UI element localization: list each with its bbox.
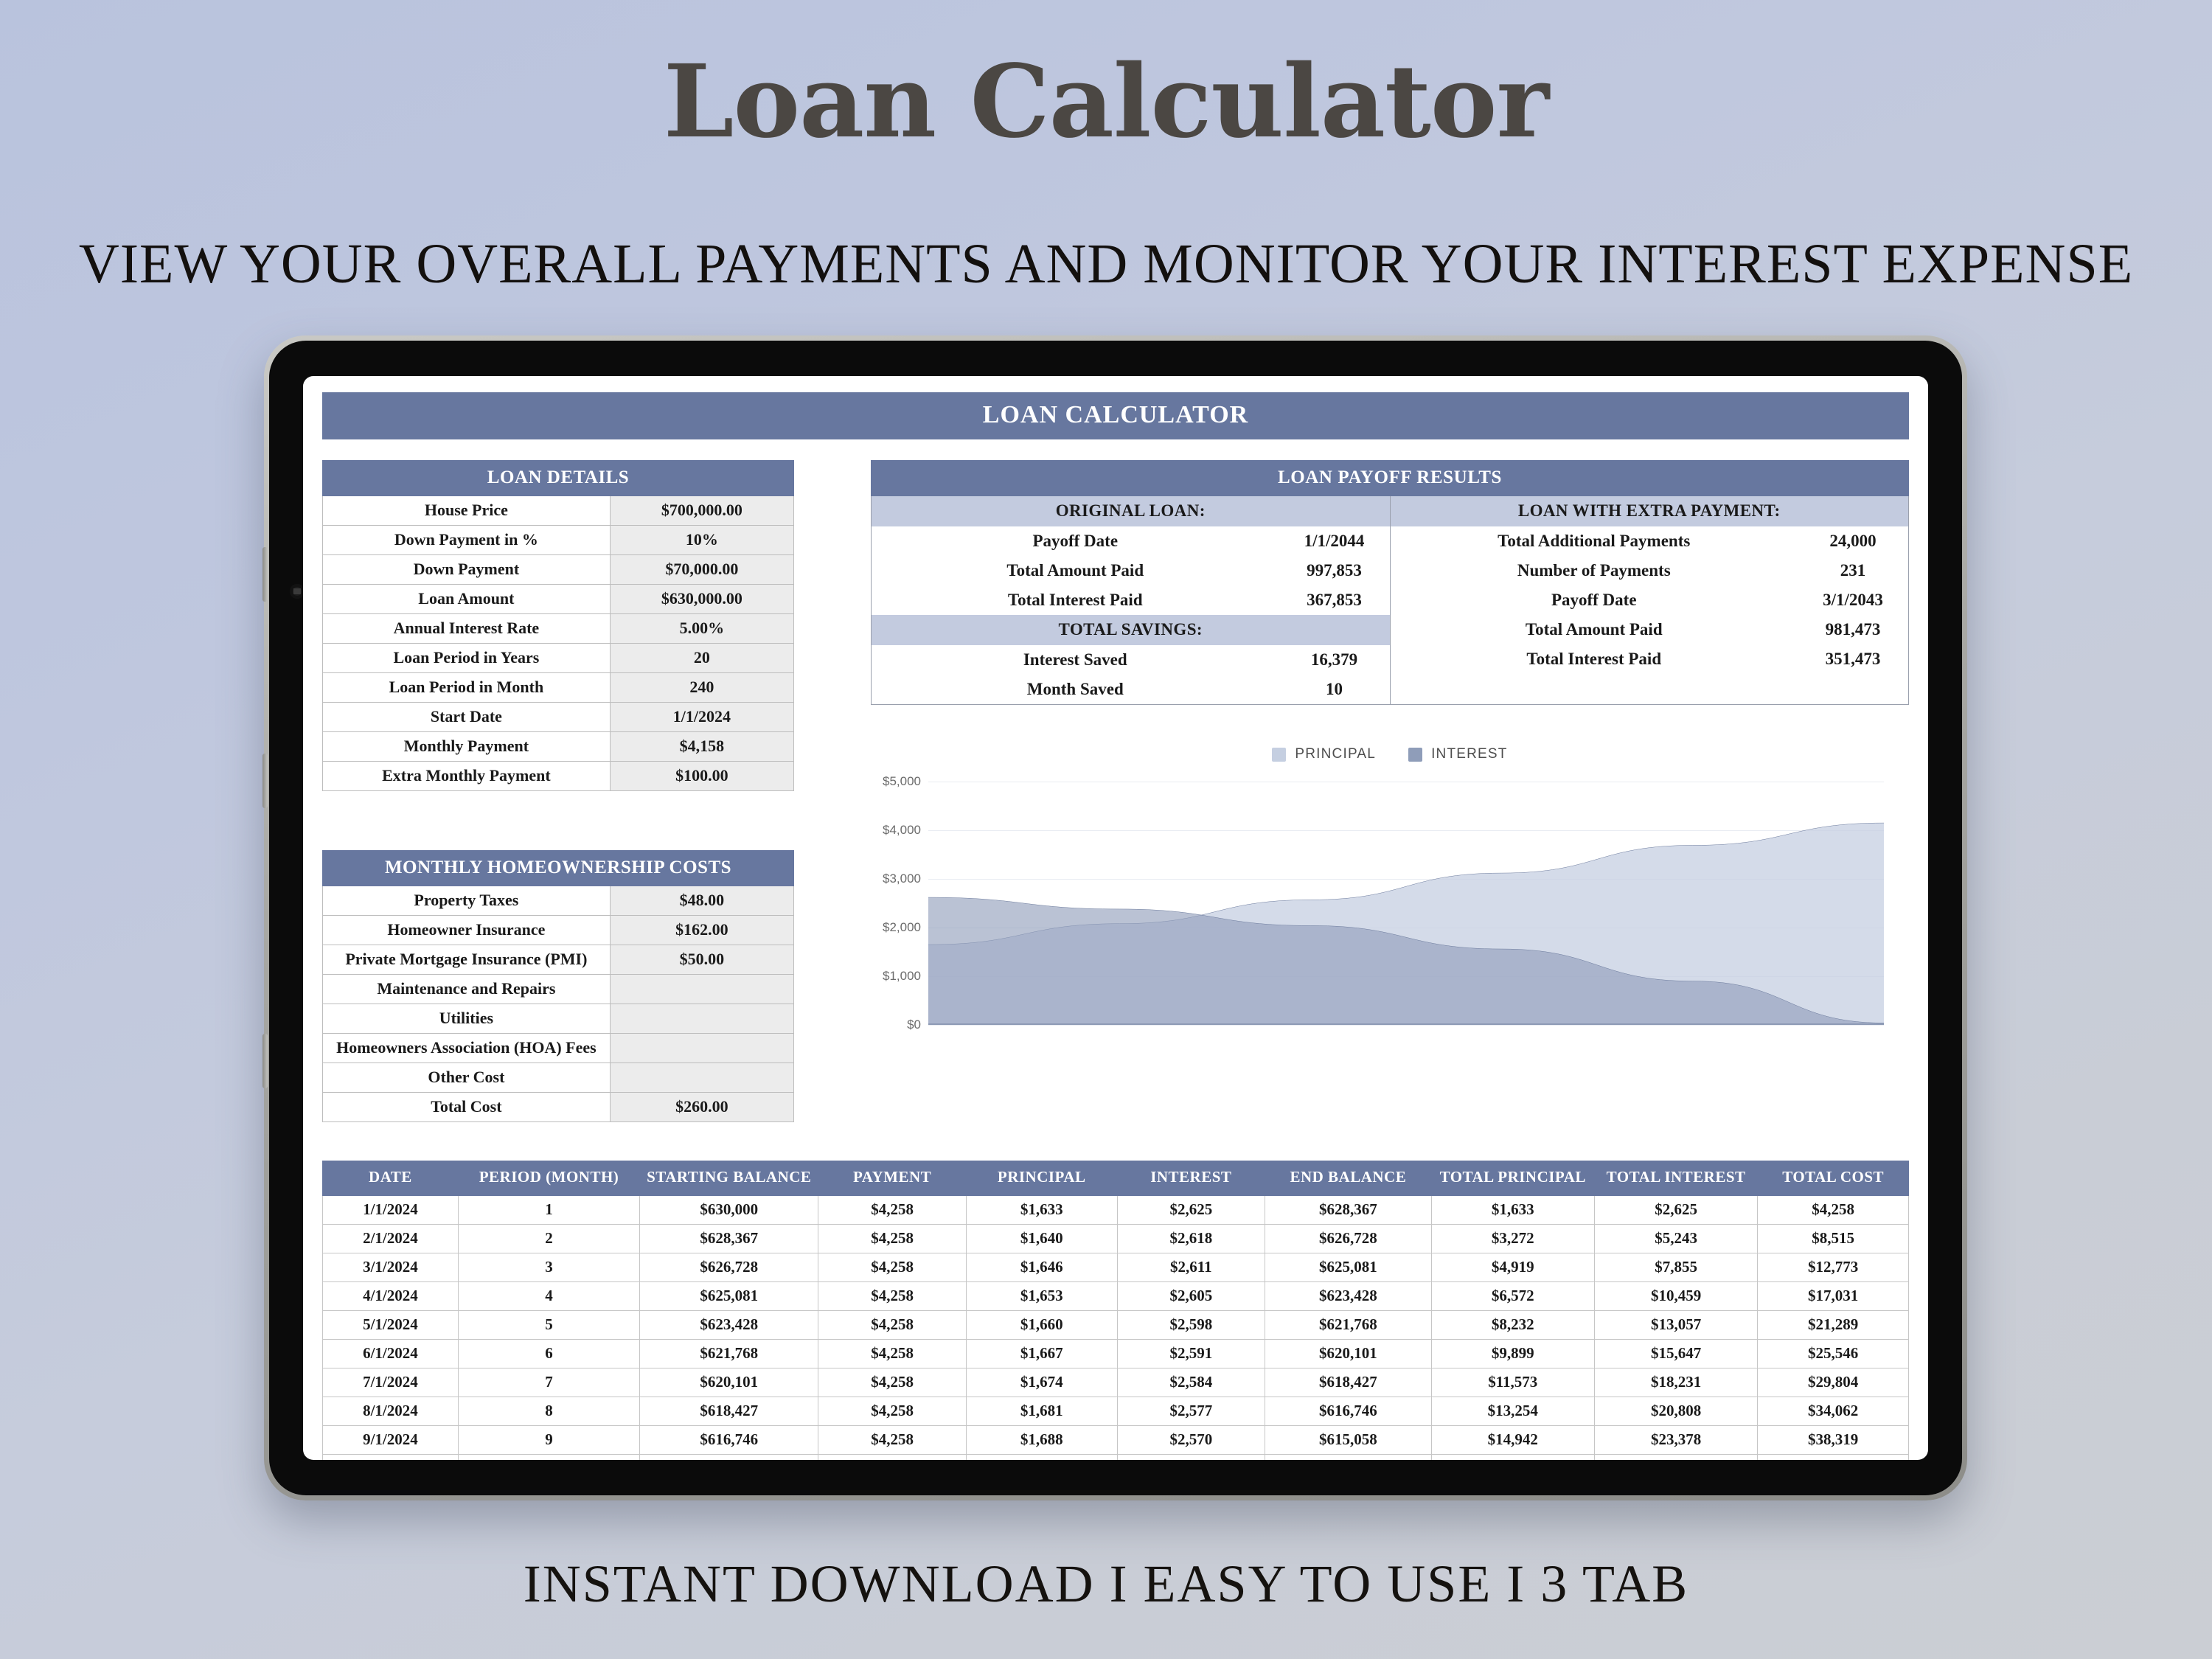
table-cell[interactable]: 5/1/2024 (323, 1310, 459, 1339)
table-row[interactable]: Other Cost (323, 1063, 794, 1093)
table-cell[interactable]: $2,598 (1117, 1310, 1265, 1339)
table-cell[interactable]: $615,058 (640, 1454, 818, 1460)
table-cell[interactable]: $1,681 (966, 1397, 1117, 1425)
table-cell[interactable]: $9,899 (1431, 1339, 1594, 1368)
table-row[interactable]: 2/1/20242$628,367$4,258$1,640$2,618$626,… (323, 1224, 1909, 1253)
row-value[interactable]: $162.00 (610, 916, 793, 945)
row-label: Extra Monthly Payment (323, 762, 611, 791)
table-row[interactable]: House Price$700,000.00 (323, 496, 794, 526)
table-row[interactable]: Property Taxes$48.00 (323, 886, 794, 916)
table-cell[interactable]: 9 (458, 1425, 639, 1454)
monthly-costs-table: MONTHLY HOMEOWNERSHIP COSTS Property Tax… (322, 850, 794, 1122)
table-cell[interactable]: $15,647 (1594, 1339, 1757, 1368)
amortization-schedule: DATEPERIOD (MONTH)STARTING BALANCEPAYMEN… (322, 1161, 1909, 1460)
table-cell[interactable]: $2,625 (1594, 1195, 1757, 1224)
table-cell[interactable]: $2,618 (1117, 1224, 1265, 1253)
row-value: 231 (1798, 556, 1908, 585)
row-value[interactable] (610, 975, 793, 1004)
table-cell[interactable]: 7 (458, 1368, 639, 1397)
row-label: Loan Period in Month (323, 673, 611, 703)
table-cell[interactable]: $1,674 (966, 1368, 1117, 1397)
table-cell[interactable]: $628,367 (1265, 1195, 1432, 1224)
table-row[interactable]: 5/1/20245$623,428$4,258$1,660$2,598$621,… (323, 1310, 1909, 1339)
table-row[interactable]: 10/1/202410$615,058$4,258$1,695$2,563$61… (323, 1454, 1909, 1460)
page-footer-text: INSTANT DOWNLOAD I EASY TO USE I 3 TAB (0, 1557, 2212, 1610)
table-row[interactable]: Total Cost$260.00 (323, 1093, 794, 1122)
table-cell[interactable]: $4,258 (818, 1253, 967, 1281)
table-cell[interactable]: $1,688 (966, 1425, 1117, 1454)
volume-down-button[interactable] (262, 754, 268, 808)
volume-up-button[interactable] (262, 547, 268, 602)
gridline (928, 1025, 1884, 1026)
payoff-row: Payoff Date1/1/2044 (872, 526, 1390, 556)
row-value[interactable]: $630,000.00 (610, 585, 793, 614)
table-cell[interactable]: $1,660 (966, 1310, 1117, 1339)
row-label: Homeowner Insurance (323, 916, 611, 945)
row-value: 351,473 (1798, 644, 1908, 674)
row-label: Start Date (323, 703, 611, 732)
row-label: Monthly Payment (323, 732, 611, 762)
page-title: Loan Calculator (0, 52, 2212, 152)
row-label: Payoff Date (1391, 585, 1798, 615)
y-tick-label: $3,000 (883, 872, 921, 886)
row-value[interactable]: $50.00 (610, 945, 793, 975)
table-row[interactable]: 6/1/20246$621,768$4,258$1,667$2,591$620,… (323, 1339, 1909, 1368)
column-header[interactable]: PRINCIPAL (966, 1161, 1117, 1196)
row-label: Loan Period in Years (323, 644, 611, 673)
row-value[interactable]: $700,000.00 (610, 496, 793, 526)
table-row[interactable]: Private Mortgage Insurance (PMI)$50.00 (323, 945, 794, 975)
row-label: Interest Saved (872, 645, 1279, 675)
total-savings-subheader: TOTAL SAVINGS: (872, 615, 1390, 645)
payoff-row: Total Interest Paid367,853 (872, 585, 1390, 615)
row-value[interactable]: 5.00% (610, 614, 793, 644)
table-cell[interactable]: $1,640 (966, 1224, 1117, 1253)
row-value[interactable]: $4,158 (610, 732, 793, 762)
legend-label-interest: INTEREST (1431, 746, 1508, 762)
table-cell[interactable]: 9/1/2024 (323, 1425, 459, 1454)
principal-interest-area-chart: PRINCIPAL INTEREST $0$1,000$2,000$3,000$… (871, 746, 1909, 1025)
table-row[interactable]: Monthly Payment$4,158 (323, 732, 794, 762)
row-label: Private Mortgage Insurance (PMI) (323, 945, 611, 975)
table-cell[interactable]: $4,258 (818, 1397, 967, 1425)
table-cell[interactable]: 4 (458, 1281, 639, 1310)
row-label: Total Cost (323, 1093, 611, 1122)
y-tick-label: $2,000 (883, 920, 921, 935)
row-label: Total Amount Paid (872, 556, 1279, 585)
table-cell[interactable]: $2,584 (1117, 1368, 1265, 1397)
table-cell[interactable]: $18,231 (1594, 1368, 1757, 1397)
column-header[interactable]: PAYMENT (818, 1161, 967, 1196)
table-cell[interactable]: $10,459 (1594, 1281, 1757, 1310)
row-label: Total Additional Payments (1391, 526, 1798, 556)
payoff-original-cell: ORIGINAL LOAN: Payoff Date1/1/2044 Total… (872, 496, 1391, 705)
row-label: Property Taxes (323, 886, 611, 916)
table-cell[interactable]: 10 (458, 1454, 639, 1460)
column-header[interactable]: PERIOD (MONTH) (458, 1161, 639, 1196)
table-row[interactable]: 8/1/20248$618,427$4,258$1,681$2,577$616,… (323, 1397, 1909, 1425)
table-cell[interactable]: $2,591 (1117, 1339, 1265, 1368)
chart-x-axis (928, 1023, 1884, 1025)
row-label: Down Payment in % (323, 526, 611, 555)
right-column: LOAN PAYOFF RESULTS ORIGINAL LOAN: Payof… (794, 460, 1909, 1122)
table-cell[interactable]: $42,577 (1758, 1454, 1909, 1460)
table-cell[interactable]: $3,272 (1431, 1224, 1594, 1253)
amortization-header-row: DATEPERIOD (MONTH)STARTING BALANCEPAYMEN… (323, 1161, 1909, 1196)
table-cell[interactable]: $4,258 (818, 1454, 967, 1460)
extra-payment-subheader: LOAN WITH EXTRA PAYMENT: (1391, 496, 1909, 526)
table-row[interactable]: 9/1/20249$616,746$4,258$1,688$2,570$615,… (323, 1425, 1909, 1454)
column-header[interactable]: INTEREST (1117, 1161, 1265, 1196)
table-cell[interactable]: $12,773 (1758, 1253, 1909, 1281)
table-row[interactable]: 7/1/20247$620,101$4,258$1,674$2,584$618,… (323, 1368, 1909, 1397)
table-cell[interactable]: $8,232 (1431, 1310, 1594, 1339)
amortization-body: 1/1/20241$630,000$4,258$1,633$2,625$628,… (323, 1195, 1909, 1460)
legend-swatch-principal (1272, 748, 1286, 762)
table-cell[interactable]: $4,258 (818, 1195, 967, 1224)
table-cell[interactable]: $20,808 (1594, 1397, 1757, 1425)
row-value[interactable]: $70,000.00 (610, 555, 793, 585)
table-cell[interactable]: 1 (458, 1195, 639, 1224)
column-header[interactable]: TOTAL INTEREST (1594, 1161, 1757, 1196)
table-cell[interactable]: $2,577 (1117, 1397, 1265, 1425)
column-header[interactable]: END BALANCE (1265, 1161, 1432, 1196)
loan-details-table: LOAN DETAILS House Price$700,000.00 Down… (322, 460, 794, 791)
table-cell[interactable]: $8,515 (1758, 1224, 1909, 1253)
table-cell[interactable]: $2,570 (1117, 1425, 1265, 1454)
table-cell[interactable]: $14,942 (1431, 1425, 1594, 1454)
table-row[interactable]: Start Date1/1/2024 (323, 703, 794, 732)
table-cell[interactable]: $6,572 (1431, 1281, 1594, 1310)
column-header[interactable]: DATE (323, 1161, 459, 1196)
payoff-row: Total Amount Paid981,473 (1391, 615, 1909, 644)
table-cell[interactable]: $17,031 (1758, 1281, 1909, 1310)
table-cell[interactable]: $618,427 (640, 1397, 818, 1425)
column-header[interactable]: STARTING BALANCE (640, 1161, 818, 1196)
table-cell[interactable]: $615,058 (1265, 1425, 1432, 1454)
payoff-row: Month Saved10 (872, 675, 1390, 704)
row-value: 10 (1279, 675, 1390, 704)
row-value: 367,853 (1279, 585, 1390, 615)
table-cell[interactable]: $1,653 (966, 1281, 1117, 1310)
row-value: 1/1/2044 (1279, 526, 1390, 556)
table-cell[interactable]: $625,081 (640, 1281, 818, 1310)
table-cell[interactable]: $621,768 (640, 1339, 818, 1368)
payoff-row: Payoff Date3/1/2043 (1391, 585, 1909, 615)
table-cell[interactable]: $1,633 (966, 1195, 1117, 1224)
tablet-device-mockup: LOAN CALCULATOR LOAN DETAILS House Price… (264, 335, 1967, 1500)
table-cell[interactable]: $21,289 (1758, 1310, 1909, 1339)
row-value[interactable] (610, 1004, 793, 1034)
legend-label-principal: PRINCIPAL (1295, 746, 1376, 762)
row-value[interactable] (610, 1063, 793, 1093)
table-cell[interactable]: $621,768 (1265, 1310, 1432, 1339)
row-value[interactable]: $260.00 (610, 1093, 793, 1122)
table-cell[interactable]: $2,625 (1117, 1195, 1265, 1224)
table-cell[interactable]: $34,062 (1758, 1397, 1909, 1425)
table-cell[interactable]: $2,563 (1117, 1454, 1265, 1460)
monthly-costs-header: MONTHLY HOMEOWNERSHIP COSTS (323, 851, 794, 886)
table-cell[interactable]: $4,258 (818, 1281, 967, 1310)
legend-item-interest[interactable]: INTEREST (1408, 746, 1508, 762)
legend-swatch-interest (1408, 748, 1422, 762)
table-cell[interactable]: $620,101 (640, 1368, 818, 1397)
table-cell[interactable]: 4/1/2024 (323, 1281, 459, 1310)
table-cell[interactable]: $630,000 (640, 1195, 818, 1224)
y-tick-label: $5,000 (883, 774, 921, 789)
chart-y-axis-labels: $0$1,000$2,000$3,000$4,000$5,000 (871, 782, 924, 1025)
row-value[interactable]: $100.00 (610, 762, 793, 791)
payoff-row: Number of Payments231 (1391, 556, 1909, 585)
payoff-row: Total Amount Paid997,853 (872, 556, 1390, 585)
table-row[interactable]: Loan Period in Month240 (323, 673, 794, 703)
table-cell[interactable]: 3 (458, 1253, 639, 1281)
table-cell[interactable]: $616,746 (640, 1425, 818, 1454)
table-cell[interactable]: 7/1/2024 (323, 1368, 459, 1397)
table-cell[interactable]: $4,258 (818, 1425, 967, 1454)
row-label: Number of Payments (1391, 556, 1798, 585)
original-loan-subheader: ORIGINAL LOAN: (872, 496, 1390, 526)
row-label: Other Cost (323, 1063, 611, 1093)
table-cell[interactable]: $620,101 (1265, 1339, 1432, 1368)
power-button[interactable] (262, 1034, 268, 1088)
table-cell[interactable]: $4,258 (818, 1368, 967, 1397)
table-row[interactable]: Annual Interest Rate5.00% (323, 614, 794, 644)
table-row[interactable]: 3/1/20243$626,728$4,258$1,646$2,611$625,… (323, 1253, 1909, 1281)
table-cell[interactable]: $623,428 (1265, 1281, 1432, 1310)
table-cell[interactable]: $4,258 (818, 1339, 967, 1368)
table-row[interactable]: Maintenance and Repairs (323, 975, 794, 1004)
table-cell[interactable]: $623,428 (640, 1310, 818, 1339)
table-cell[interactable]: $29,804 (1758, 1368, 1909, 1397)
row-label: Total Amount Paid (1391, 615, 1798, 644)
table-cell[interactable]: $613,363 (1265, 1454, 1432, 1460)
chart-plot-area: $0$1,000$2,000$3,000$4,000$5,000 (871, 782, 1909, 1025)
table-cell[interactable]: 6 (458, 1339, 639, 1368)
table-cell[interactable]: 10/1/2024 (323, 1454, 459, 1460)
y-tick-label: $0 (907, 1018, 921, 1032)
column-header[interactable]: TOTAL PRINCIPAL (1431, 1161, 1594, 1196)
table-row[interactable]: Loan Period in Years20 (323, 644, 794, 673)
amortization-table: DATEPERIOD (MONTH)STARTING BALANCEPAYMEN… (322, 1161, 1909, 1460)
table-row[interactable]: Homeowner Insurance$162.00 (323, 916, 794, 945)
table-cell[interactable]: $2,611 (1117, 1253, 1265, 1281)
table-row[interactable]: Down Payment$70,000.00 (323, 555, 794, 585)
row-label: House Price (323, 496, 611, 526)
legend-item-principal[interactable]: PRINCIPAL (1272, 746, 1376, 762)
row-label: Loan Amount (323, 585, 611, 614)
table-cell[interactable]: $616,746 (1265, 1397, 1432, 1425)
table-cell[interactable]: 5 (458, 1310, 639, 1339)
table-cell[interactable]: 8 (458, 1397, 639, 1425)
table-cell[interactable]: 3/1/2024 (323, 1253, 459, 1281)
table-cell[interactable]: $25,940 (1594, 1454, 1757, 1460)
row-label: Total Interest Paid (872, 585, 1279, 615)
table-cell[interactable]: $1,695 (966, 1454, 1117, 1460)
row-label: Annual Interest Rate (323, 614, 611, 644)
chart-series-areas (928, 782, 1884, 1025)
table-row[interactable]: Loan Amount$630,000.00 (323, 585, 794, 614)
row-label: Total Interest Paid (1391, 644, 1798, 674)
table-cell[interactable]: $13,057 (1594, 1310, 1757, 1339)
row-value: 16,379 (1279, 645, 1390, 675)
table-cell[interactable]: 2 (458, 1224, 639, 1253)
table-cell[interactable]: $1,667 (966, 1339, 1117, 1368)
table-cell[interactable]: $626,728 (640, 1253, 818, 1281)
row-label: Maintenance and Repairs (323, 975, 611, 1004)
page-subtitle: VIEW YOUR OVERALL PAYMENTS AND MONITOR Y… (0, 236, 2212, 292)
row-label: Down Payment (323, 555, 611, 585)
table-cell[interactable]: $25,546 (1758, 1339, 1909, 1368)
spreadsheet-screen: LOAN CALCULATOR LOAN DETAILS House Price… (303, 376, 1928, 1460)
column-header[interactable]: TOTAL COST (1758, 1161, 1909, 1196)
row-label: Month Saved (872, 675, 1279, 704)
table-cell[interactable]: $1,633 (1431, 1195, 1594, 1224)
payoff-row: Interest Saved16,379 (872, 645, 1390, 675)
table-cell[interactable]: 1/1/2024 (323, 1195, 459, 1224)
table-cell[interactable]: $23,378 (1594, 1425, 1757, 1454)
table-cell[interactable]: $13,254 (1431, 1397, 1594, 1425)
table-cell[interactable]: 6/1/2024 (323, 1339, 459, 1368)
row-value[interactable]: 1/1/2024 (610, 703, 793, 732)
left-column: LOAN DETAILS House Price$700,000.00 Down… (322, 460, 794, 1122)
table-row[interactable]: Utilities (323, 1004, 794, 1034)
table-cell[interactable]: $4,258 (818, 1310, 967, 1339)
sheet-title-banner: LOAN CALCULATOR (322, 392, 1909, 439)
payoff-row: Total Additional Payments24,000 (1391, 526, 1909, 556)
table-cell[interactable]: 8/1/2024 (323, 1397, 459, 1425)
row-value[interactable]: $48.00 (610, 886, 793, 916)
row-value[interactable]: 10% (610, 526, 793, 555)
table-cell[interactable]: 2/1/2024 (323, 1224, 459, 1253)
table-cell[interactable]: $38,319 (1758, 1425, 1909, 1454)
row-value: 3/1/2043 (1798, 585, 1908, 615)
table-cell[interactable]: $2,605 (1117, 1281, 1265, 1310)
row-value[interactable]: 240 (610, 673, 793, 703)
front-camera-icon (290, 584, 305, 599)
row-value: 997,853 (1279, 556, 1390, 585)
table-cell[interactable]: $4,258 (1758, 1195, 1909, 1224)
chart-canvas (928, 782, 1884, 1025)
payoff-extra-cell: LOAN WITH EXTRA PAYMENT: Total Additiona… (1390, 496, 1909, 705)
table-row[interactable]: 1/1/20241$630,000$4,258$1,633$2,625$628,… (323, 1195, 1909, 1224)
table-cell[interactable]: $625,081 (1265, 1253, 1432, 1281)
table-cell[interactable]: $1,646 (966, 1253, 1117, 1281)
table-cell[interactable]: $16,637 (1431, 1454, 1594, 1460)
row-value: 981,473 (1798, 615, 1908, 644)
table-row[interactable]: 4/1/20244$625,081$4,258$1,653$2,605$623,… (323, 1281, 1909, 1310)
table-row[interactable]: Homeowners Association (HOA) Fees (323, 1034, 794, 1063)
y-tick-label: $4,000 (883, 823, 921, 838)
row-label: Payoff Date (872, 526, 1279, 556)
table-cell[interactable]: $11,573 (1431, 1368, 1594, 1397)
loan-details-header: LOAN DETAILS (323, 461, 794, 496)
table-row[interactable]: Down Payment in %10% (323, 526, 794, 555)
row-value[interactable] (610, 1034, 793, 1063)
payoff-row: Total Interest Paid351,473 (1391, 644, 1909, 674)
spacer (322, 791, 794, 850)
row-label: Homeowners Association (HOA) Fees (323, 1034, 611, 1063)
y-tick-label: $1,000 (883, 969, 921, 984)
loan-payoff-results-table: LOAN PAYOFF RESULTS ORIGINAL LOAN: Payof… (871, 460, 1909, 705)
table-cell[interactable]: $618,427 (1265, 1368, 1432, 1397)
table-cell[interactable]: $4,919 (1431, 1253, 1594, 1281)
chart-legend: PRINCIPAL INTEREST (871, 746, 1909, 762)
table-cell[interactable]: $5,243 (1594, 1224, 1757, 1253)
row-label: Utilities (323, 1004, 611, 1034)
row-value: 24,000 (1798, 526, 1908, 556)
payoff-header: LOAN PAYOFF RESULTS (872, 461, 1909, 496)
table-cell[interactable]: $626,728 (1265, 1224, 1432, 1253)
row-value[interactable]: 20 (610, 644, 793, 673)
tablet-bezel: LOAN CALCULATOR LOAN DETAILS House Price… (269, 341, 1962, 1495)
table-cell[interactable]: $7,855 (1594, 1253, 1757, 1281)
table-row[interactable]: Extra Monthly Payment$100.00 (323, 762, 794, 791)
table-cell[interactable]: $4,258 (818, 1224, 967, 1253)
table-cell[interactable]: $628,367 (640, 1224, 818, 1253)
